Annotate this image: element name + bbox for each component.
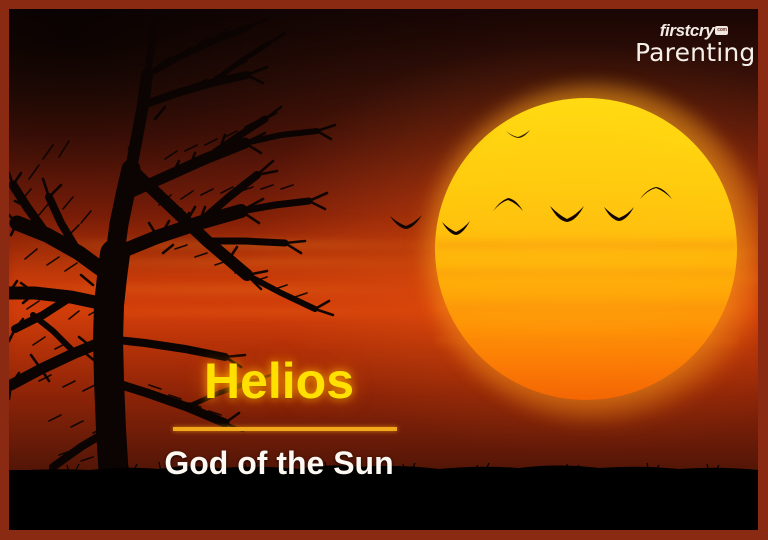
- bird-silhouette: [603, 206, 635, 222]
- bird-silhouette: [505, 129, 531, 139]
- title-divider: [173, 427, 397, 431]
- page-subtitle: God of the Sun: [9, 445, 549, 482]
- page-title: Helios: [9, 352, 549, 410]
- bird-silhouette: [639, 187, 673, 204]
- bird-silhouette: [549, 205, 585, 223]
- logo-firstcry-label: firstcry: [660, 21, 714, 40]
- logo-parenting-text: Parenting: [635, 40, 745, 66]
- bird-silhouette: [389, 214, 423, 230]
- logo-com-badge: com: [715, 26, 728, 35]
- firstcry-parenting-logo[interactable]: firstcrycom Parenting: [635, 22, 745, 66]
- sunset-scene: Helios God of the Sun firstcrycom Parent…: [9, 9, 758, 530]
- logo-com-text: com: [717, 28, 726, 33]
- image-border-frame: Helios God of the Sun firstcrycom Parent…: [0, 0, 768, 540]
- logo-firstcry-text: firstcrycom: [635, 22, 745, 39]
- bird-silhouette: [492, 198, 524, 214]
- bird-silhouette: [441, 221, 471, 236]
